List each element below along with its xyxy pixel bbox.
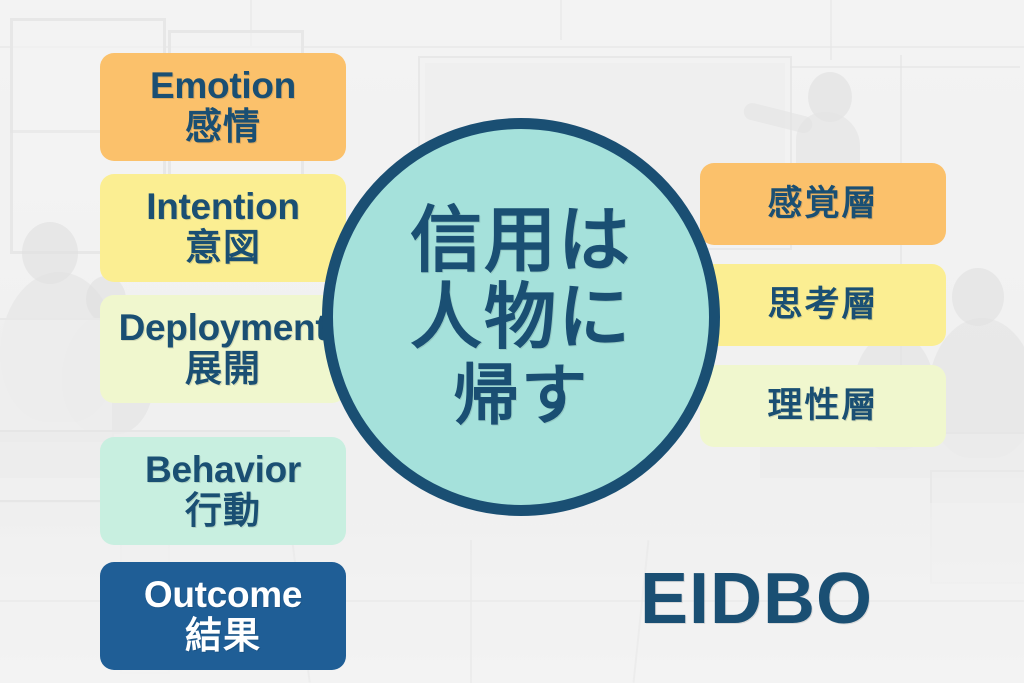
card-emotion[interactable]: Emotion 感情 bbox=[100, 53, 346, 161]
slide-canvas: Emotion 感情 Intention 意図 Deployment 展開 Be… bbox=[0, 0, 1024, 683]
card-deployment-ja: 展開 bbox=[185, 348, 261, 389]
center-circle[interactable]: 信用は 人物に 帰す bbox=[322, 118, 720, 516]
card-sensory-layer[interactable]: 感覚層 bbox=[700, 163, 946, 245]
card-deployment[interactable]: Deployment 展開 bbox=[100, 295, 346, 403]
card-intention-en: Intention bbox=[146, 188, 299, 226]
card-outcome-ja: 結果 bbox=[185, 615, 261, 656]
card-behavior-ja: 行動 bbox=[185, 490, 261, 531]
center-line-1: 信用は bbox=[410, 203, 632, 281]
card-thinking-layer[interactable]: 思考層 bbox=[700, 264, 946, 346]
card-intention[interactable]: Intention 意図 bbox=[100, 174, 346, 282]
card-sensory-layer-ja: 感覚層 bbox=[767, 184, 878, 223]
card-emotion-ja: 感情 bbox=[185, 106, 261, 147]
card-thinking-layer-ja: 思考層 bbox=[767, 285, 878, 324]
card-emotion-en: Emotion bbox=[150, 67, 296, 105]
card-deployment-en: Deployment bbox=[119, 309, 328, 347]
card-outcome-en: Outcome bbox=[144, 576, 302, 614]
card-intention-ja: 意図 bbox=[185, 227, 261, 268]
card-behavior-en: Behavior bbox=[145, 451, 301, 489]
center-line-2: 人物に bbox=[410, 280, 632, 358]
center-line-3: 帰す bbox=[453, 360, 589, 431]
card-reason-layer-ja: 理性層 bbox=[767, 386, 878, 425]
card-outcome[interactable]: Outcome 結果 bbox=[100, 562, 346, 670]
card-behavior[interactable]: Behavior 行動 bbox=[100, 437, 346, 545]
card-reason-layer[interactable]: 理性層 bbox=[700, 365, 946, 447]
brand-logo: EIDBO bbox=[640, 558, 873, 640]
